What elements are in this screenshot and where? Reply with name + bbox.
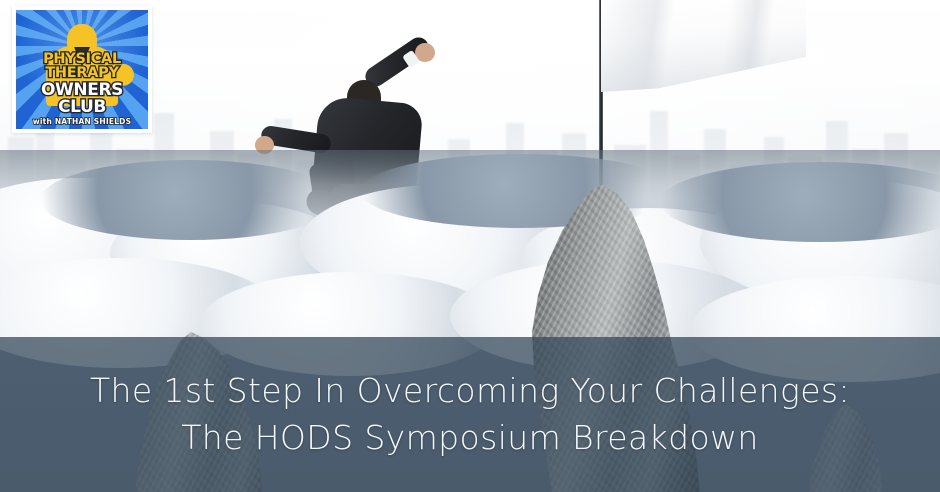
- title-overlay-band: [0, 337, 940, 492]
- podcast-logo[interactable]: PHYSICAL THERAPY OWNERS CLUB with NATHAN…: [12, 6, 152, 133]
- logo-artwork: PHYSICAL THERAPY OWNERS CLUB with NATHAN…: [16, 10, 148, 129]
- logo-line-2: OWNERS CLUB: [16, 82, 148, 116]
- logo-line-1: PHYSICAL THERAPY: [16, 52, 148, 81]
- logo-line-3: with NATHAN SHIELDS: [16, 118, 148, 126]
- episode-banner: The 1st Step In Overcoming Your Challeng…: [0, 0, 940, 492]
- logo-text: PHYSICAL THERAPY OWNERS CLUB with NATHAN…: [16, 52, 148, 126]
